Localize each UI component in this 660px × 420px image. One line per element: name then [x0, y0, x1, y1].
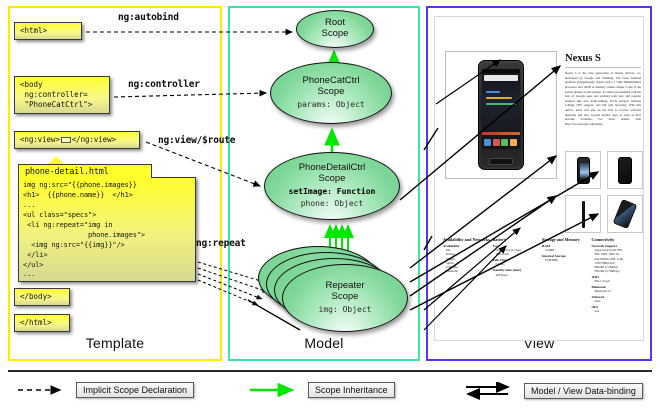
phone-app-icon-1	[484, 139, 491, 146]
scope-phonecatctrl-name-line2: Scope	[318, 87, 345, 98]
phone-app-icon-3	[501, 139, 508, 146]
phone-dock-divider	[482, 132, 520, 135]
legend-item-implicit-scope: Implicit Scope Declaration	[16, 382, 194, 398]
thumbnail-phone-back[interactable]	[607, 151, 643, 189]
legend: Implicit Scope Declaration Scope Inherit…	[8, 380, 652, 406]
spec-header-availability: Availability and Networks	[443, 237, 491, 242]
legend-label-implicit-scope: Implicit Scope Declaration	[76, 382, 194, 398]
panel-model-label: Model	[230, 335, 418, 351]
view-rendered-page: Nexus S Nexus S is the next generation o…	[434, 16, 644, 341]
phone-back-icon	[618, 157, 632, 184]
scope-root: Root Scope	[296, 10, 374, 48]
legend-label-data-binding: Model / View Data-binding	[524, 383, 643, 399]
panel-template-label: Template	[10, 335, 220, 351]
phone-statusbar	[482, 69, 520, 73]
phone-search-widget	[484, 75, 518, 81]
phone-app-icon-2	[493, 139, 500, 146]
spec-value-wifi-0: 802.11 b/g/n	[595, 279, 640, 283]
ngview-slot-icon	[61, 137, 71, 143]
phone-wallpaper-line-3	[486, 91, 500, 93]
template-box-html-open: <html>	[14, 22, 82, 40]
green-arrow-icon	[248, 383, 302, 397]
phone-side-icon	[582, 201, 585, 228]
view-title-divider	[565, 67, 641, 68]
phone-home-button-icon	[489, 158, 513, 165]
spec-column-availability: Availability and Networks Availability M…	[443, 237, 491, 314]
legend-divider	[8, 370, 652, 372]
code-block-content: img ng:src="{{phone.images}} <h1> {{phon…	[18, 177, 196, 282]
spec-header-connectivity: Connectivity	[592, 237, 640, 242]
connector-label-controller: ng:controller	[128, 79, 200, 90]
diagram-root: Template Model View <html> <body ng:cont…	[0, 0, 660, 420]
scope-phonecatctrl-prop-params: params: Object	[297, 100, 364, 110]
scope-repeater-prop-img: img: Object	[319, 305, 372, 315]
spec-value-storage-ram-0: 512MB	[545, 248, 590, 252]
template-box-body-close: </body>	[14, 288, 70, 306]
phone-front-icon	[577, 157, 590, 184]
spec-value-network-5: HSUPA (5.76Mbps)	[595, 269, 640, 273]
phone-screen	[482, 69, 520, 149]
ngview-open-tag: <ng:view>	[20, 135, 60, 144]
connector-label-repeat: ng:repeat	[196, 238, 246, 249]
phone-wallpaper-line-1	[486, 97, 512, 99]
scope-phonedetailctrl-prop-phone: phone: Object	[301, 199, 364, 209]
view-spec-table: Availability and Networks Availability M…	[443, 237, 639, 314]
phone-hero-image-frame	[445, 51, 557, 179]
view-phone-description: Nexus S is the next generation of Nexus …	[565, 71, 641, 127]
spec-value-battery-type-1: 1500 mAh	[496, 252, 541, 256]
ngview-close-tag: </ng:view>	[72, 135, 116, 144]
scope-phonedetailctrl-name-line2: Scope	[319, 174, 346, 185]
spec-value-bluetooth-0: Bluetooth 2.1	[595, 289, 640, 293]
legend-item-data-binding: Model / View Data-binding	[464, 382, 643, 400]
connector-label-autobind: ng:autobind	[118, 12, 179, 23]
spec-header-battery: Battery	[493, 237, 541, 242]
legend-label-scope-inheritance: Scope Inheritance	[308, 382, 395, 398]
scope-repeater-name-line2: Scope	[332, 292, 359, 303]
spec-column-connectivity: Connectivity Network Support Quad-band G…	[592, 237, 640, 314]
template-box-body-open: <body ng:controller= "PhoneCatCtrl">	[14, 76, 110, 114]
spec-column-battery: Battery Type Lithium Ion (Li-Ion) 1500 m…	[493, 237, 541, 314]
dashed-arrow-icon	[16, 383, 70, 397]
scope-root-name-line2: Scope	[322, 29, 349, 40]
spec-value-battery-standby-0: 428 hours	[496, 273, 541, 277]
view-thumbnail-grid	[565, 151, 643, 233]
spec-value-gps-0: true	[595, 309, 640, 313]
double-arrow-icon	[464, 382, 518, 400]
phone-dock-icons	[484, 139, 518, 146]
scope-phonecatctrl: PhoneCatCtrl Scope params: Object	[270, 62, 392, 124]
phone-angle-icon	[613, 199, 638, 229]
spec-value-infrared-0: false	[595, 299, 640, 303]
thumbnail-phone-angle[interactable]	[607, 195, 643, 233]
scope-repeater: Repeater Scope img: Object	[282, 264, 408, 332]
phone-app-icon-4	[510, 139, 517, 146]
spec-value-availability-5: Vodafone	[446, 269, 491, 273]
template-box-ngview: <ng:view></ng:view>	[14, 131, 140, 149]
spec-value-storage-internal-0: 16384MB	[545, 258, 590, 262]
spec-value-battery-talktime-0: 6 hours	[496, 262, 541, 266]
scope-phonedetailctrl: PhoneDetailCtrl Scope setImage: Function…	[264, 152, 400, 220]
legend-item-scope-inheritance: Scope Inheritance	[248, 382, 395, 398]
view-phone-title: Nexus S	[565, 53, 601, 64]
spec-header-storage: Storage and Memory	[542, 237, 590, 242]
scope-phonedetailctrl-prop-setimage: setImage: Function	[289, 187, 376, 197]
connector-label-route: ng:view/$route	[158, 135, 235, 146]
phone-hero-image	[478, 60, 524, 170]
spec-column-storage: Storage and Memory RAM 512MB Internal St…	[542, 237, 590, 314]
template-box-html-close: </html>	[14, 314, 70, 332]
code-block-title: phone-detail.html	[18, 164, 152, 178]
phone-wallpaper-line-2	[486, 103, 516, 105]
thumbnail-phone-side[interactable]	[565, 195, 601, 233]
thumbnail-phone-front[interactable]	[565, 151, 601, 189]
